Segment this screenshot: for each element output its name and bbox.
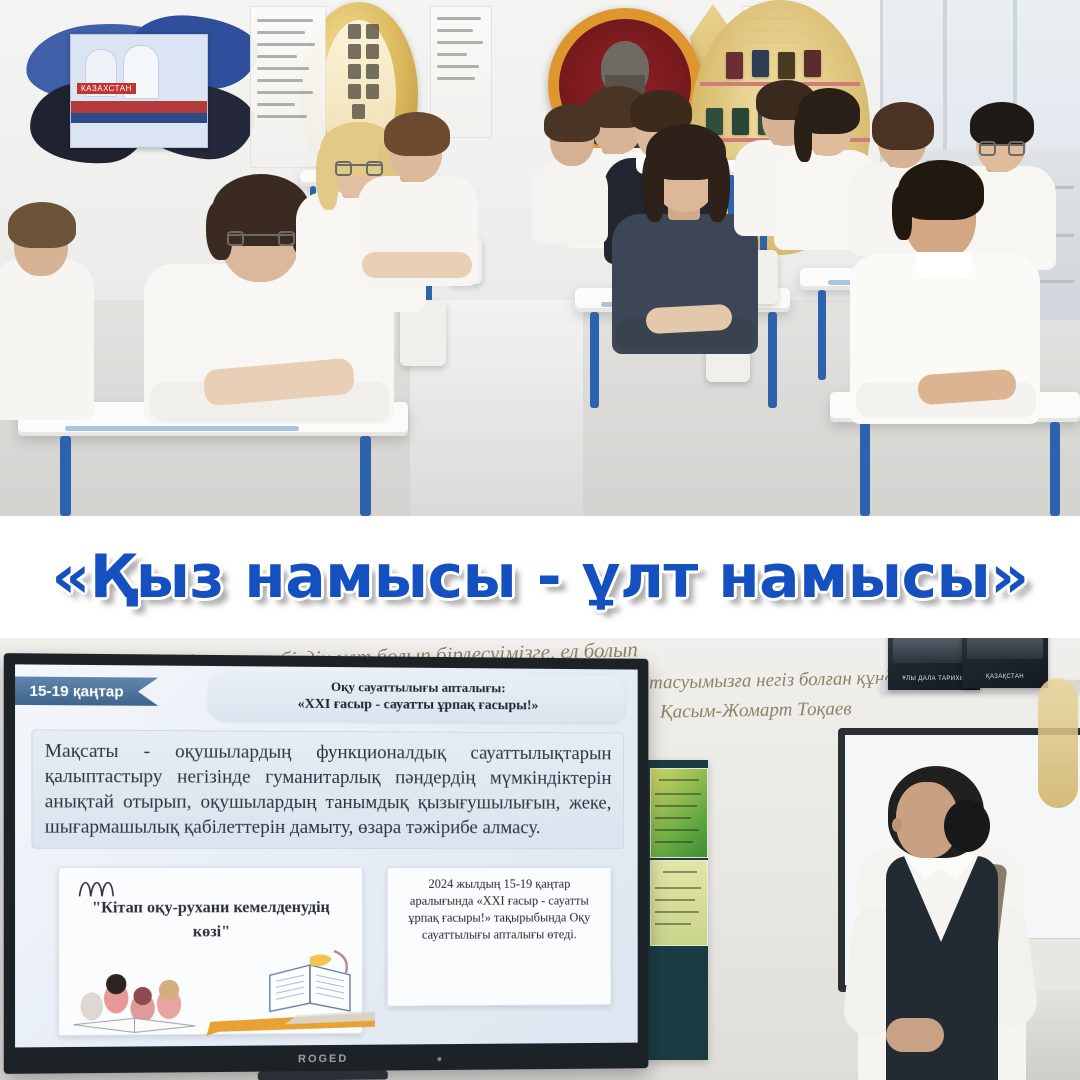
green-notice-board (648, 760, 708, 1060)
poster-title-band: «Қыз намысы - ұлт намысы» (0, 516, 1080, 638)
monitor-screen[interactable]: 15-19 қаңтар Оқу сауаттылығы апталығы: «… (15, 664, 638, 1047)
student-back-left-boy (352, 110, 482, 260)
kazakhstan-map-decor: КАЗАХСТАН (18, 10, 258, 175)
page-title: «Қыз намысы - ұлт намысы» (51, 547, 1028, 607)
presentation-slide: 15-19 қаңтар Оқу сауаттылығы апталығы: «… (15, 664, 638, 1047)
classroom-photo: КАЗАХСТАН (0, 0, 1080, 516)
green-poster-top (650, 768, 708, 858)
orange-arrow-band (188, 1011, 379, 1038)
presentation-monitor[interactable]: 15-19 қаңтар Оқу сауаттылығы апталығы: «… (4, 653, 649, 1074)
book-kazakhstan: ҚАЗАҚСТАН ҚАЗАҚСТАН (962, 638, 1048, 688)
poster-collage: КАЗАХСТАН (0, 0, 1080, 1080)
student-far-left-partial (0, 200, 100, 420)
open-book-icon (264, 949, 356, 1020)
monitor-power-led (437, 1057, 441, 1061)
slide-card-left-quote: "Кітап оқу-рухани кемелденудің көзі" (80, 896, 342, 945)
student-glasses (980, 144, 1024, 146)
wall-quote-author: Қасым-Жомарт Тоқаев (660, 698, 852, 723)
slide-header-line-2: «XXI ғасыр - сауатты ұрпақ ғасыры!» (219, 696, 616, 715)
green-poster-bottom (650, 860, 708, 946)
student-front-right (830, 150, 1060, 410)
slide-header: Оқу сауаттылығы апталығы: «XXI ғасыр - с… (208, 672, 625, 723)
slide-date-ribbon: 15-19 қаңтар (15, 676, 158, 705)
student-back-far-1 (530, 104, 610, 224)
slide-card-right: 2024 жылдың 15-19 қаңтар аралығында «XXI… (387, 867, 612, 1007)
slide-body-text: Мақсаты - оқушылардың функционалдық сауа… (31, 729, 624, 849)
gold-ornament-right (1038, 678, 1078, 808)
teacher-figure (840, 756, 1040, 1080)
map-tag-label: КАЗАХСТАН (77, 83, 136, 94)
presentation-photo: Абай мұрасы- біздің ұлт болып бірлесуімі… (0, 638, 1080, 1080)
monitor-brand-label: ROGED (298, 1053, 348, 1065)
monitor-stand (258, 1070, 388, 1080)
student-glasses (228, 234, 294, 236)
students-reading-illustration (69, 968, 201, 1035)
slide-header-line-1: Оқу сауаттылығы апталығы: (219, 678, 616, 697)
